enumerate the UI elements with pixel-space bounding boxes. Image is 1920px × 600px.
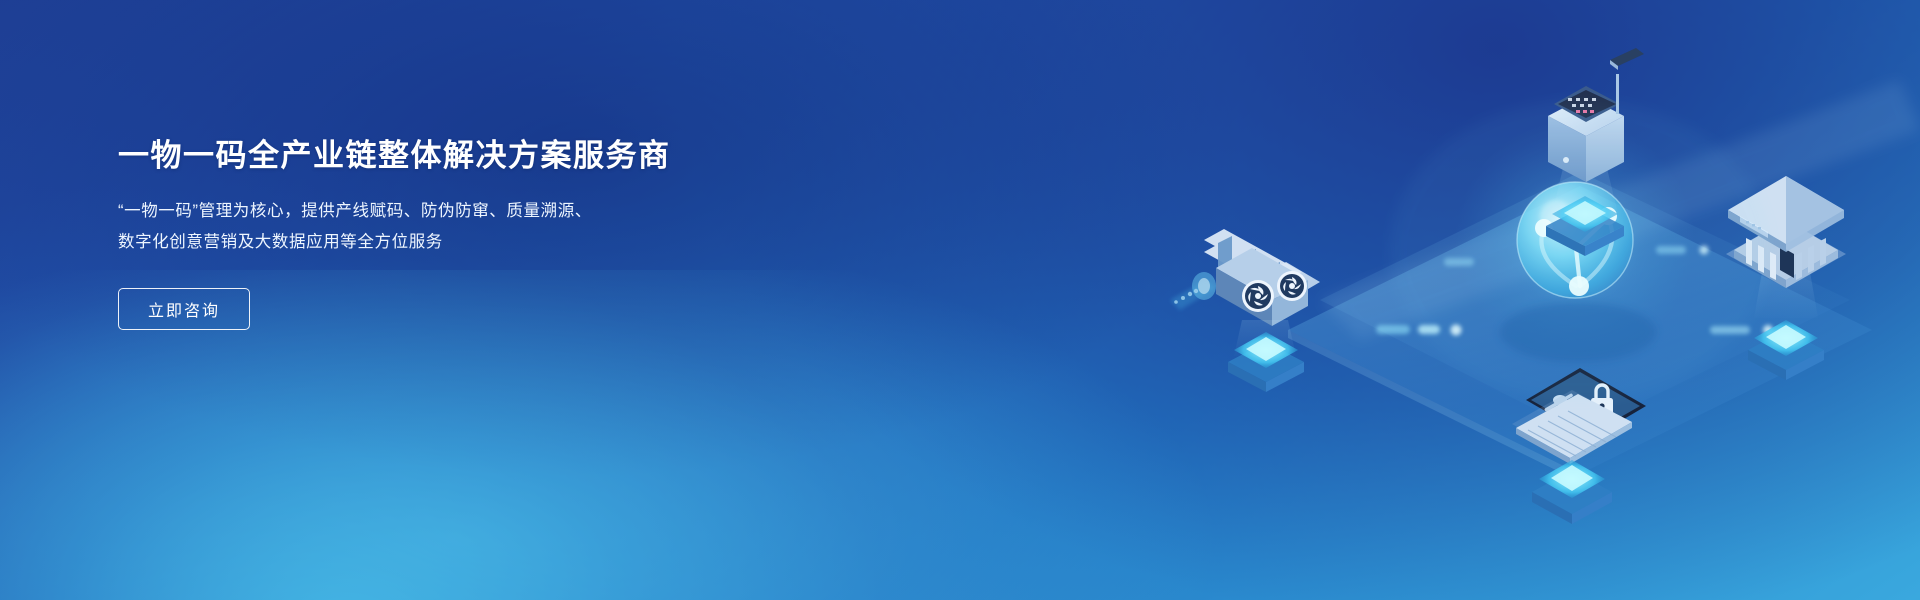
subtitle-line-1: “一物一码”管理为核心，提供产线赋码、防伪防窜、质量溯源、 [118,196,778,227]
server-fan-rack-icon [1170,229,1320,392]
sphere-halo [1455,120,1695,360]
isometric-network-illustration [1020,0,1920,600]
sphere-shadow [1500,302,1656,362]
isometric-platform [1288,80,1920,482]
pedestal-bank [1748,320,1824,380]
consult-now-button[interactable]: 立即咨询 [118,288,250,330]
hero-copy: 一物一码全产业链整体解决方案服务商 “一物一码”管理为核心，提供产线赋码、防伪防… [118,136,778,330]
lock-icon [1591,385,1613,416]
pos-terminal-icon [1546,48,1644,256]
hero-subtitle: “一物一码”管理为核心，提供产线赋码、防伪防窜、质量溯源、 数字化创意营销及大数… [118,196,778,258]
laptop-security-icon [1512,368,1646,464]
subtitle-line-2: 数字化创意营销及大数据应用等全方位服务 [118,227,778,258]
bank-building-icon [1726,176,1846,380]
pedestal-pos [1546,196,1624,256]
page-title: 一物一码全产业链整体解决方案服务商 [118,136,778,176]
pedestal-laptop [1532,460,1612,524]
pedestal-server [1228,332,1304,392]
data-flow-lines [1350,246,1830,393]
hero-banner: 一物一码全产业链整体解决方案服务商 “一物一码”管理为核心，提供产线赋码、防伪防… [0,0,1920,600]
network-sphere-icon [1517,182,1633,298]
